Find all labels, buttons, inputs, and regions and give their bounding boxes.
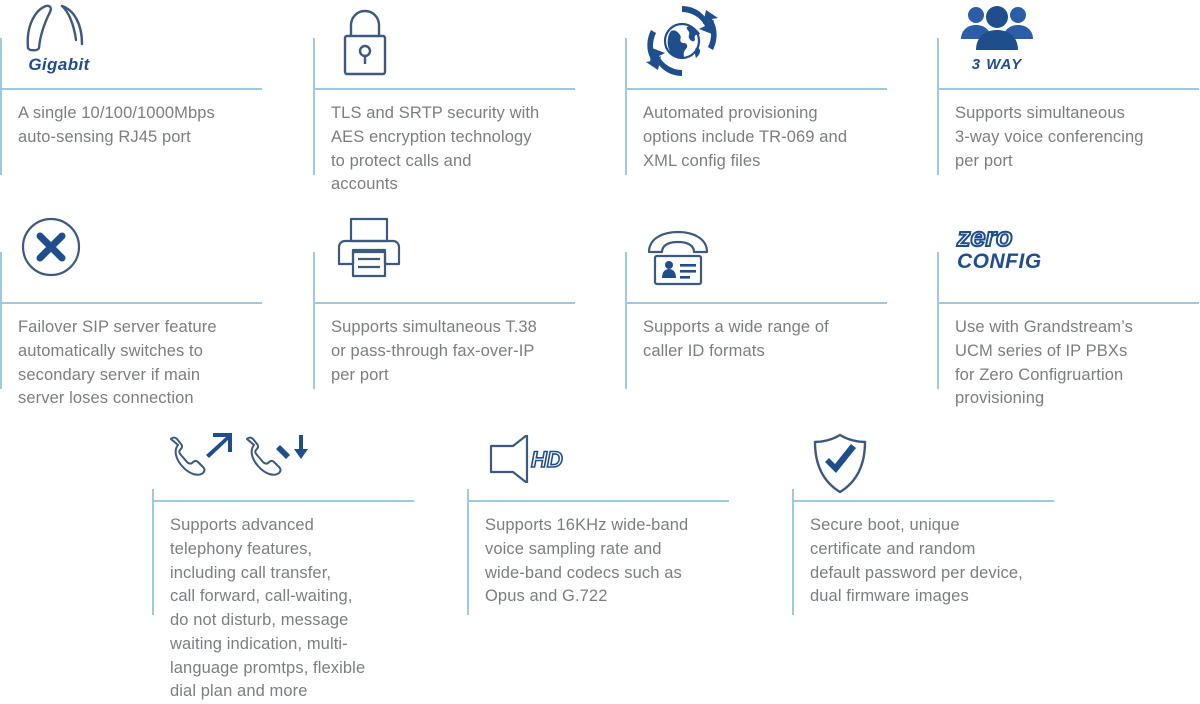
cell-rule-horizontal: [313, 302, 575, 304]
cell-rule-vertical: [0, 252, 2, 389]
cell-rule-horizontal: [0, 302, 262, 304]
phone-caller-id-icon: [645, 230, 717, 288]
cell-rule-horizontal: [625, 88, 887, 90]
cell-rule-vertical: [0, 38, 2, 175]
padlock-icon: [335, 6, 395, 80]
fax-machine-icon: [333, 216, 405, 280]
feature-cell-gigabit-port: Gigabit A single 10/100/1000Mbps auto-se…: [0, 38, 262, 198]
feature-cell-caller-id-formats: Supports a wide range of caller ID forma…: [625, 252, 887, 422]
cell-rule-horizontal: [937, 302, 1199, 304]
feature-cell-fax-over-ip: Supports simultaneous T.38 or pass-throu…: [313, 252, 575, 422]
feature-text: TLS and SRTP security with AES encryptio…: [331, 102, 577, 197]
feature-text: Failover SIP server feature automaticall…: [18, 316, 260, 411]
feature-text: Supports simultaneous T.38 or pass-throu…: [331, 316, 581, 387]
feature-text: Supports advanced telephony features, in…: [170, 514, 408, 704]
feature-cell-tls-srtp-security: TLS and SRTP security with AES encryptio…: [313, 38, 575, 198]
feature-cell-zero-config: zero CONFIG Use with Grandstream’s UCM s…: [937, 252, 1199, 422]
cell-rule-horizontal: [313, 88, 575, 90]
svg-text:HD: HD: [531, 447, 563, 472]
cell-rule-horizontal: [152, 500, 414, 502]
cell-rule-vertical: [313, 252, 315, 389]
cell-rule-horizontal: [625, 302, 887, 304]
hd-speaker-icon: HD: [485, 435, 575, 483]
cell-rule-vertical: [937, 38, 939, 175]
feature-cell-three-way-conferencing: 3 WAY Supports simultaneous 3-way voice …: [937, 38, 1199, 198]
cell-rule-horizontal: [792, 500, 1054, 502]
shield-check-icon: [810, 433, 870, 495]
cell-rule-vertical: [313, 38, 315, 175]
config-wordmark-label: CONFIG: [957, 251, 1042, 272]
globe-refresh-icon: [641, 0, 723, 80]
gigabit-badge-label: Gigabit: [28, 56, 89, 73]
feature-text: Use with Grandstream’s UCM series of IP …: [955, 316, 1199, 411]
cell-rule-vertical: [792, 489, 794, 615]
cell-rule-vertical: [937, 252, 939, 389]
feature-grid: Gigabit A single 10/100/1000Mbps auto-se…: [0, 0, 1200, 687]
feature-text: Secure boot, unique certificate and rand…: [810, 514, 1062, 609]
cell-rule-vertical: [467, 489, 469, 615]
three-users-icon: 3 WAY: [959, 4, 1035, 72]
zero-wordmark-label: zero: [957, 224, 1013, 251]
feature-cell-secure-boot: Secure boot, unique certificate and rand…: [792, 489, 1054, 679]
cell-rule-horizontal: [937, 88, 1199, 90]
feature-cell-advanced-telephony: Supports advanced telephony features, in…: [152, 489, 414, 679]
x-circle-icon: [20, 216, 82, 278]
feature-text: Supports 16KHz wide-band voice sampling …: [485, 514, 733, 609]
cell-rule-horizontal: [0, 88, 262, 90]
feature-text: Supports simultaneous 3-way voice confer…: [955, 102, 1195, 173]
cell-rule-vertical: [625, 38, 627, 175]
cell-rule-horizontal: [467, 500, 729, 502]
feature-text: Supports a wide range of caller ID forma…: [643, 316, 887, 364]
feature-cell-hd-wideband-voice: HD Supports 16KHz wide-band voice sampli…: [467, 489, 729, 679]
zero-config-wordmark-icon: zero CONFIG: [957, 224, 1042, 272]
cell-rule-vertical: [625, 252, 627, 389]
feature-cell-failover-sip-server: Failover SIP server feature automaticall…: [0, 252, 262, 422]
phone-transfer-icon: [246, 433, 308, 485]
gigabit-arc-icon: Gigabit: [22, 0, 96, 73]
three-way-badge-label: 3 WAY: [972, 57, 1023, 72]
cell-rule-vertical: [152, 489, 154, 615]
feature-cell-automated-provisioning: Automated provisioning options include T…: [625, 38, 887, 198]
feature-text: A single 10/100/1000Mbps auto-sensing RJ…: [18, 102, 258, 150]
feature-text: Automated provisioning options include T…: [643, 102, 891, 173]
phone-transfer-icons: [170, 433, 308, 485]
phone-outgoing-icon: [170, 433, 232, 485]
